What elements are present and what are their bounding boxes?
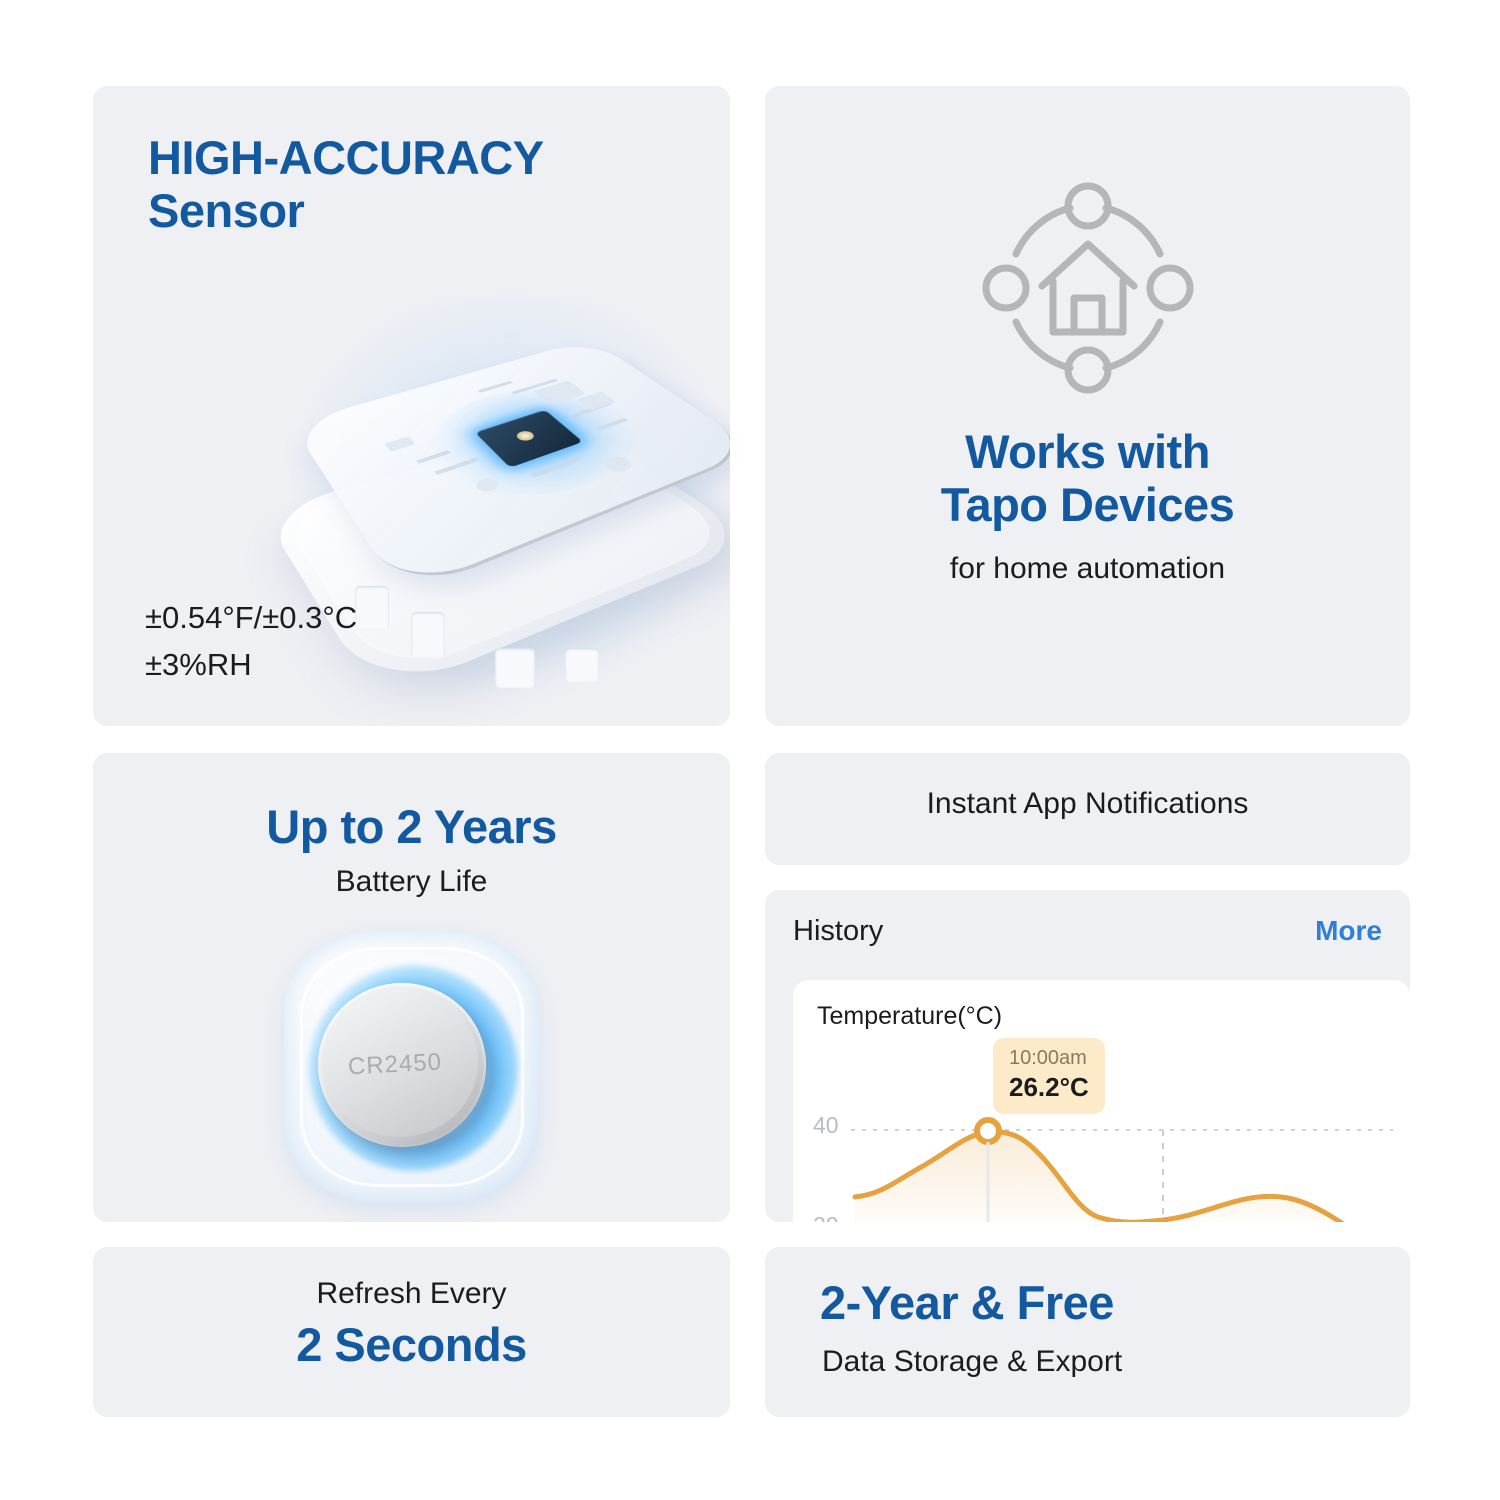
- panel-high-accuracy-sensor: HIGH-ACCURACY Sensor: [93, 86, 730, 726]
- battery-caption: Battery Life: [93, 865, 730, 899]
- battery-image: CR2450: [262, 921, 562, 1211]
- tapo-title-line1: Works with: [765, 426, 1410, 479]
- chart-area-fill: [855, 1132, 1361, 1222]
- panel-instant-notifications: Instant App Notifications: [765, 753, 1410, 865]
- smart-home-network-icon: [982, 182, 1194, 399]
- refresh-caption: Refresh Every: [93, 1277, 730, 1311]
- history-chart-card: Temperature(°C): [793, 980, 1410, 1222]
- panel-works-with-tapo: Works with Tapo Devices for home automat…: [765, 86, 1410, 726]
- tooltip-time: 10:00am: [1009, 1046, 1089, 1071]
- accuracy-spec-temperature: ±0.54°F/±0.3°C: [145, 594, 357, 641]
- panel-history-chart: History More Temperature(°C): [765, 890, 1410, 1222]
- accuracy-title-line1: HIGH-ACCURACY: [148, 132, 544, 185]
- refresh-title: 2 Seconds: [93, 1319, 730, 1372]
- accuracy-spec-text: ±0.54°F/±0.3°C ±3%RH: [145, 594, 357, 688]
- notifications-text: Instant App Notifications: [765, 787, 1410, 821]
- accuracy-title: HIGH-ACCURACY Sensor: [148, 132, 544, 237]
- history-more-link[interactable]: More: [1315, 915, 1382, 947]
- panel-battery-life: Up to 2 Years Battery Life CR2450: [93, 753, 730, 1222]
- storage-title: 2-Year & Free: [820, 1277, 1114, 1330]
- accuracy-spec-humidity: ±3%RH: [145, 641, 357, 688]
- infographic-stage: HIGH-ACCURACY Sensor: [0, 0, 1500, 1500]
- coin-cell-battery: CR2450: [318, 983, 486, 1147]
- battery-model-label: CR2450: [317, 1047, 472, 1083]
- chart-ytick-20: 20: [813, 1212, 839, 1222]
- chart-ytick-40: 40: [813, 1112, 839, 1139]
- chart-highlight-marker: [977, 1120, 999, 1142]
- panel-data-storage: 2-Year & Free Data Storage & Export: [765, 1247, 1410, 1417]
- tooltip-value: 26.2°C: [1009, 1071, 1089, 1104]
- history-header-label: History: [793, 915, 883, 948]
- tapo-title-line2: Tapo Devices: [765, 479, 1410, 532]
- battery-title: Up to 2 Years: [93, 801, 730, 854]
- accuracy-title-line2: Sensor: [148, 185, 544, 238]
- chart-tooltip: 10:00am 26.2°C: [993, 1038, 1105, 1114]
- panel-refresh-rate: Refresh Every 2 Seconds: [93, 1247, 730, 1417]
- tapo-title: Works with Tapo Devices: [765, 426, 1410, 531]
- tapo-caption: for home automation: [765, 552, 1410, 586]
- storage-caption: Data Storage & Export: [822, 1345, 1122, 1379]
